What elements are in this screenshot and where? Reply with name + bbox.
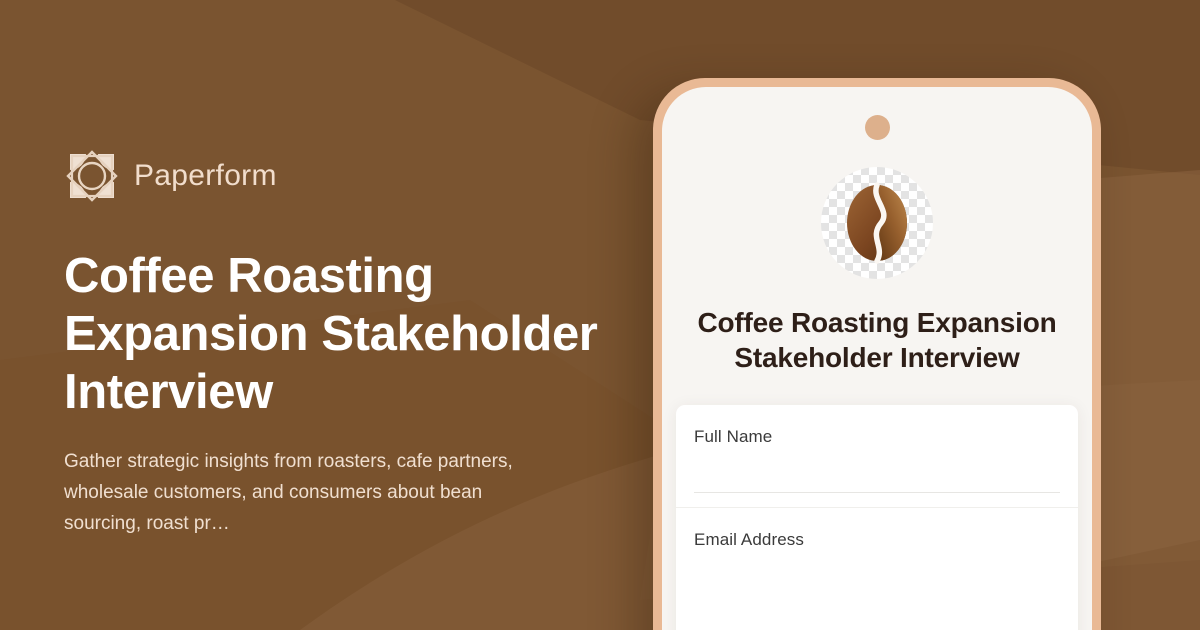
brand-name: Paperform	[134, 159, 277, 193]
coffee-bean-icon	[821, 167, 933, 279]
form-field-email-address[interactable]: Email Address	[676, 507, 1078, 596]
paperform-logo-icon	[64, 148, 120, 204]
left-content-panel: Paperform Coffee Roasting Expansion Stak…	[64, 0, 644, 630]
brand-lockup: Paperform	[64, 148, 644, 204]
page-description: Gather strategic insights from roasters,…	[64, 447, 544, 539]
email-address-input[interactable]	[694, 550, 1060, 596]
phone-mockup: Coffee Roasting Expansion Stakeholder In…	[653, 78, 1101, 630]
form-card: Full Name Email Address	[676, 405, 1078, 630]
full-name-input[interactable]	[694, 447, 1060, 493]
form-title: Coffee Roasting Expansion Stakeholder In…	[697, 305, 1057, 376]
og-image-canvas: Paperform Coffee Roasting Expansion Stak…	[0, 0, 1200, 630]
phone-screen: Coffee Roasting Expansion Stakeholder In…	[662, 87, 1092, 630]
field-label-full-name: Full Name	[694, 427, 1060, 447]
camera-dot-icon	[865, 115, 890, 140]
page-title: Coffee Roasting Expansion Stakeholder In…	[64, 248, 624, 421]
form-field-full-name[interactable]: Full Name	[676, 405, 1078, 493]
field-label-email-address: Email Address	[694, 530, 1060, 550]
